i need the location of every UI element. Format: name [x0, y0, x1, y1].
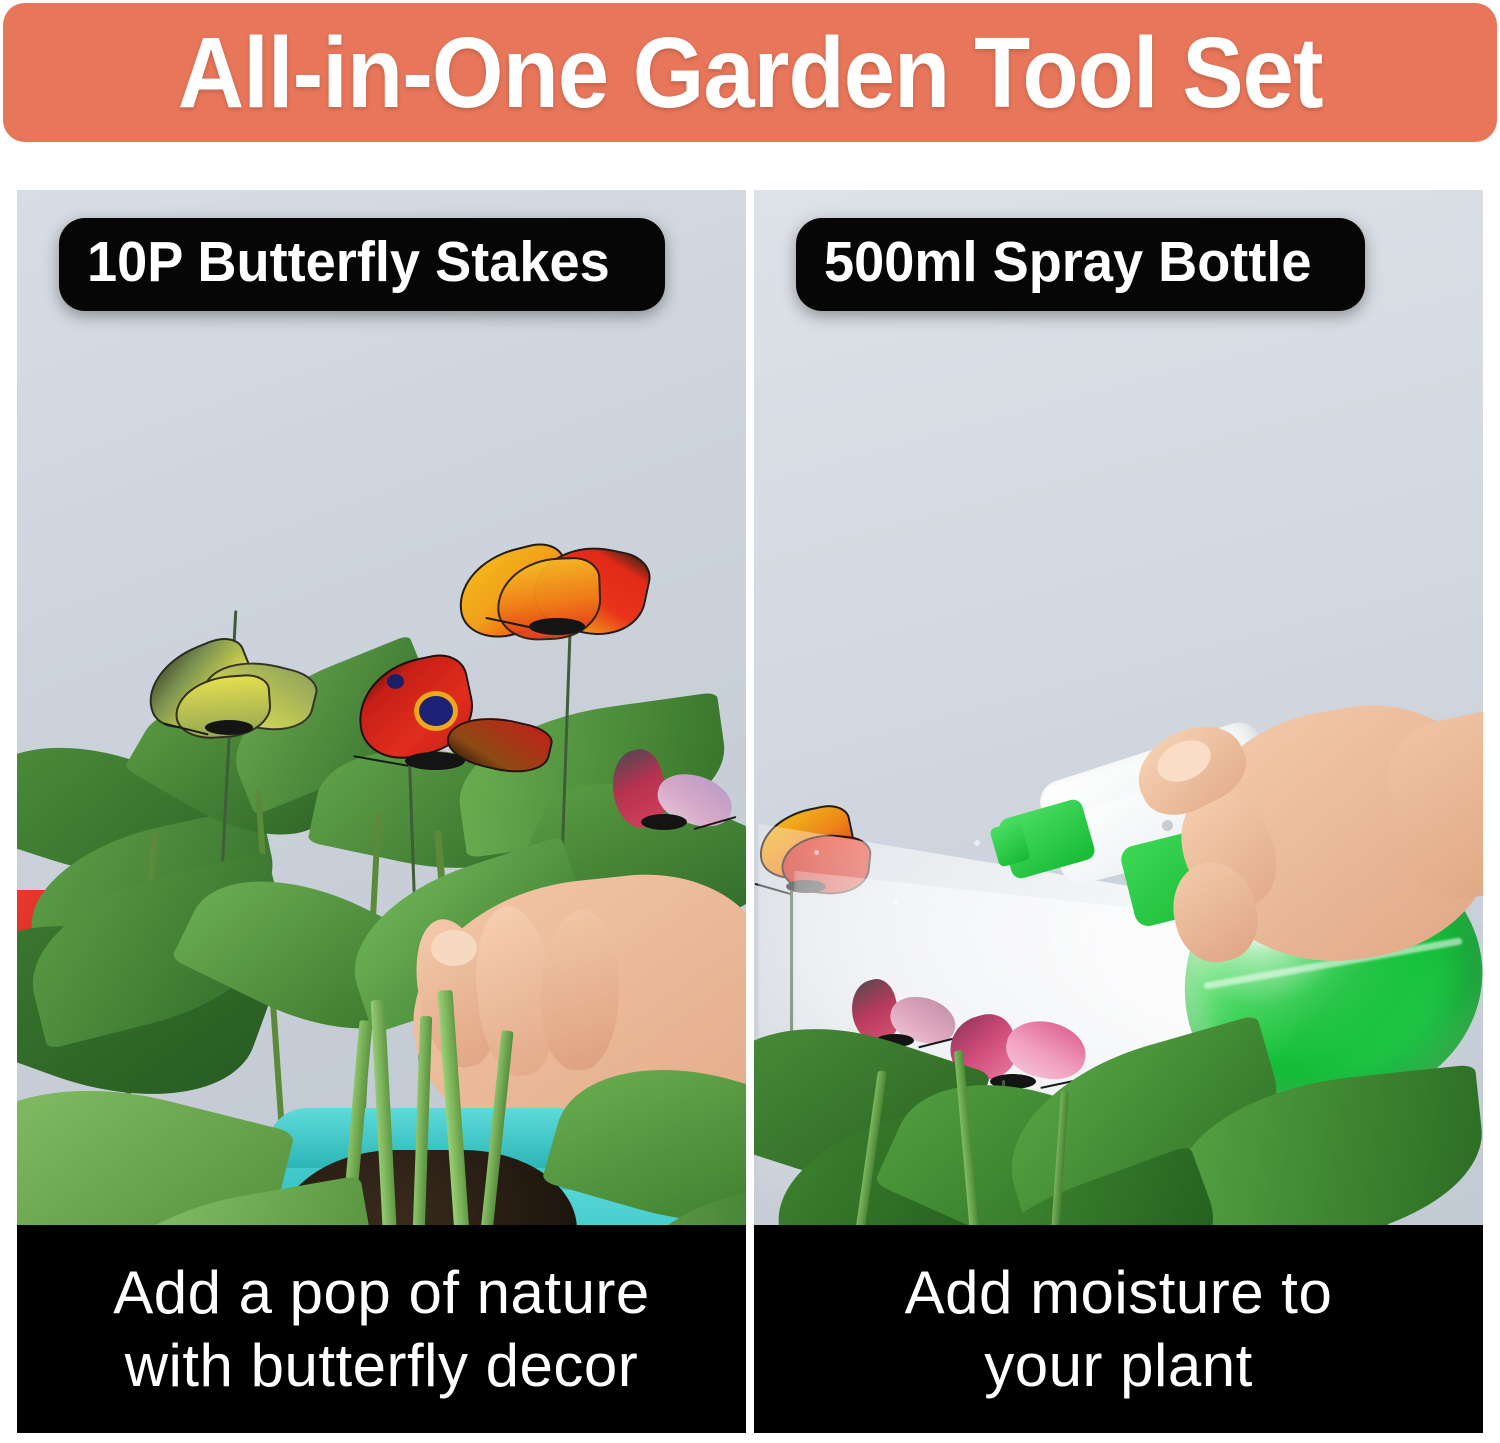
badge-butterfly-stakes: 10P Butterfly Stakes: [59, 218, 665, 311]
badge-label: 500ml Spray Bottle: [824, 234, 1312, 291]
caption-spray-bottle: Add moisture to your plant: [754, 1225, 1483, 1433]
badge-spray-bottle: 500ml Spray Bottle: [796, 218, 1365, 311]
butterfly-stakes-photo: 10P Butterfly Stakes: [17, 190, 746, 1230]
caption-line: Add moisture to: [905, 1256, 1333, 1329]
butterfly-body: [641, 814, 687, 830]
butterfly-body: [205, 720, 253, 735]
pink-violet-butterfly: [605, 750, 740, 855]
caption-line: your plant: [984, 1329, 1253, 1402]
butterfly-eyespot: [419, 696, 453, 726]
butterfly-body: [405, 752, 465, 770]
product-panels: 10P Butterfly Stakes Add a pop of nature…: [17, 190, 1483, 1433]
orange-red-butterfly: [457, 540, 647, 660]
header-banner: All-in-One Garden Tool Set: [3, 3, 1497, 142]
trigger-screw: [1162, 820, 1173, 831]
spray-bottle-photo: 500ml Spray Bottle: [754, 190, 1483, 1230]
badge-label: 10P Butterfly Stakes: [87, 234, 610, 291]
caption-line: with butterfly decor: [125, 1329, 639, 1402]
panel-spray-bottle[interactable]: 500ml Spray Bottle Add moisture to your …: [754, 190, 1483, 1433]
panel-butterfly-stakes[interactable]: 10P Butterfly Stakes Add a pop of nature…: [17, 190, 746, 1433]
red-peacock-butterfly: [347, 660, 547, 800]
yellow-green-butterfly: [145, 648, 320, 763]
caption-line: Add a pop of nature: [113, 1256, 650, 1329]
page-title: All-in-One Garden Tool Set: [178, 23, 1323, 123]
butterfly-body: [529, 618, 585, 635]
butterfly-eyespot: [387, 674, 404, 689]
caption-butterfly-stakes: Add a pop of nature with butterfly decor: [17, 1225, 746, 1433]
fingernail: [431, 930, 477, 966]
